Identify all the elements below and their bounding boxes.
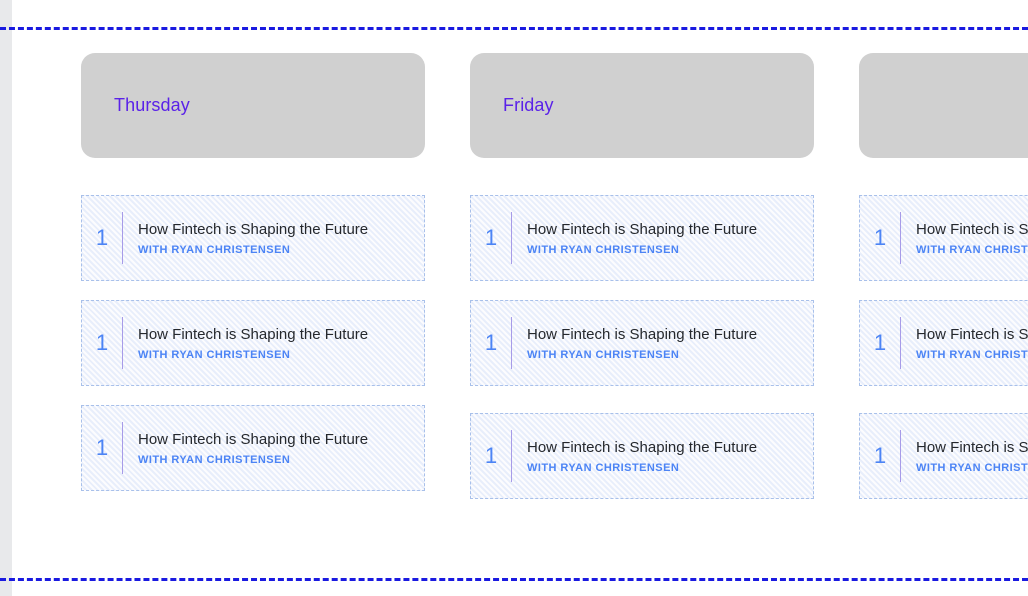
session-title: How Fintech is Shaping the Future <box>138 325 410 344</box>
session-speaker: WITH RYAN CHRISTENSEN <box>916 349 1028 362</box>
session-list: 1How Fintech is Shaping the FutureWITH R… <box>81 195 425 491</box>
left-rail <box>0 0 12 596</box>
session-speaker: WITH RYAN CHRISTENSEN <box>916 462 1028 475</box>
session-divider <box>122 212 123 264</box>
session-card[interactable]: 1How Fintech is Shaping the FutureWITH R… <box>859 413 1028 499</box>
session-body: How Fintech is Shaping the FutureWITH RY… <box>916 220 1028 257</box>
session-body: How Fintech is Shaping the FutureWITH RY… <box>138 325 410 362</box>
session-index: 1 <box>471 227 511 249</box>
session-body: How Fintech is Shaping the FutureWITH RY… <box>527 325 799 362</box>
day-columns: Thursday1How Fintech is Shaping the Futu… <box>12 31 1028 499</box>
session-body: How Fintech is Shaping the FutureWITH RY… <box>138 220 410 257</box>
session-speaker: WITH RYAN CHRISTENSEN <box>138 244 410 257</box>
day-header-card[interactable]: Friday <box>470 53 814 158</box>
session-list: 1How Fintech is Shaping the FutureWITH R… <box>859 195 1028 499</box>
session-card[interactable]: 1How Fintech is Shaping the FutureWITH R… <box>470 195 814 281</box>
session-speaker: WITH RYAN CHRISTENSEN <box>527 349 799 362</box>
session-divider <box>122 422 123 474</box>
session-index: 1 <box>82 437 122 459</box>
session-title: How Fintech is Shaping the Future <box>916 325 1028 344</box>
session-title: How Fintech is Shaping the Future <box>916 438 1028 457</box>
session-speaker: WITH RYAN CHRISTENSEN <box>527 462 799 475</box>
session-divider <box>511 430 512 482</box>
session-body: How Fintech is Shaping the FutureWITH RY… <box>916 325 1028 362</box>
session-index: 1 <box>860 227 900 249</box>
session-divider <box>511 212 512 264</box>
session-index: 1 <box>471 445 511 467</box>
day-header-label: Thursday <box>114 95 190 117</box>
session-index: 1 <box>471 332 511 354</box>
session-speaker: WITH RYAN CHRISTENSEN <box>916 244 1028 257</box>
session-title: How Fintech is Shaping the Future <box>527 325 799 344</box>
session-card[interactable]: 1How Fintech is Shaping the FutureWITH R… <box>81 195 425 281</box>
session-body: How Fintech is Shaping the FutureWITH RY… <box>916 438 1028 475</box>
session-body: How Fintech is Shaping the FutureWITH RY… <box>138 430 410 467</box>
session-title: How Fintech is Shaping the Future <box>138 430 410 449</box>
day-column: 1How Fintech is Shaping the FutureWITH R… <box>859 53 1028 499</box>
session-body: How Fintech is Shaping the FutureWITH RY… <box>527 438 799 475</box>
session-title: How Fintech is Shaping the Future <box>527 220 799 239</box>
session-title: How Fintech is Shaping the Future <box>138 220 410 239</box>
session-list: 1How Fintech is Shaping the FutureWITH R… <box>470 195 814 499</box>
day-header-card[interactable] <box>859 53 1028 158</box>
session-index: 1 <box>82 227 122 249</box>
session-divider <box>900 212 901 264</box>
session-divider <box>900 317 901 369</box>
section-guide-line-bottom <box>0 578 1028 581</box>
session-card[interactable]: 1How Fintech is Shaping the FutureWITH R… <box>859 195 1028 281</box>
session-index: 1 <box>860 332 900 354</box>
session-divider <box>900 430 901 482</box>
session-card[interactable]: 1How Fintech is Shaping the FutureWITH R… <box>81 300 425 386</box>
session-card[interactable]: 1How Fintech is Shaping the FutureWITH R… <box>859 300 1028 386</box>
day-column: Thursday1How Fintech is Shaping the Futu… <box>81 53 425 491</box>
session-divider <box>122 317 123 369</box>
session-speaker: WITH RYAN CHRISTENSEN <box>138 454 410 467</box>
session-card[interactable]: 1How Fintech is Shaping the FutureWITH R… <box>470 413 814 499</box>
session-index: 1 <box>860 445 900 467</box>
session-index: 1 <box>82 332 122 354</box>
session-card[interactable]: 1How Fintech is Shaping the FutureWITH R… <box>470 300 814 386</box>
schedule-board[interactable]: Thursday1How Fintech is Shaping the Futu… <box>12 31 1028 577</box>
session-title: How Fintech is Shaping the Future <box>916 220 1028 239</box>
day-column: Friday1How Fintech is Shaping the Future… <box>470 53 814 499</box>
day-header-card[interactable]: Thursday <box>81 53 425 158</box>
session-divider <box>511 317 512 369</box>
session-speaker: WITH RYAN CHRISTENSEN <box>138 349 410 362</box>
day-header-label: Friday <box>503 95 554 117</box>
session-speaker: WITH RYAN CHRISTENSEN <box>527 244 799 257</box>
session-title: How Fintech is Shaping the Future <box>527 438 799 457</box>
section-guide-line-top <box>0 27 1028 30</box>
session-card[interactable]: 1How Fintech is Shaping the FutureWITH R… <box>81 405 425 491</box>
session-body: How Fintech is Shaping the FutureWITH RY… <box>527 220 799 257</box>
